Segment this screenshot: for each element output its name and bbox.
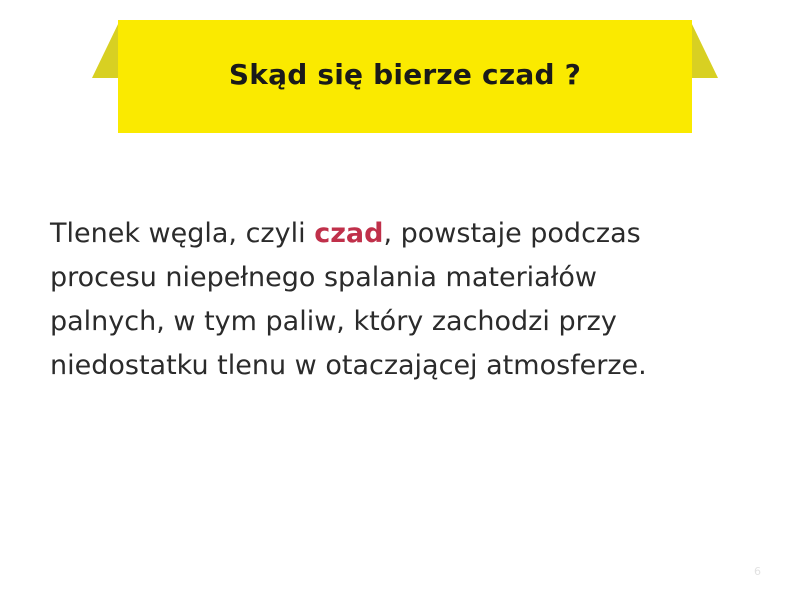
ribbon-tail-left-decoration (92, 20, 120, 78)
body-line: procesu niepełnego spalania materiałów (50, 256, 730, 300)
page-number: 6 (754, 565, 761, 578)
slide-title: Skąd się bierze czad ? (118, 20, 692, 133)
ribbon-tail-right-decoration (690, 20, 718, 78)
body-line: niedostatku tlenu w otaczającej atmosfer… (50, 344, 730, 388)
body-line: Tlenek węgla, czyli czad, powstaje podcz… (50, 212, 730, 256)
slide-canvas: Skąd się bierze czad ? Tlenek węgla, czy… (0, 0, 803, 600)
body-line-text-tail: , powstaje podczas (383, 218, 640, 249)
body-line-text: palnych, w tym paliw, który zachodzi prz… (50, 306, 617, 337)
body-line-text: Tlenek węgla, czyli (50, 218, 314, 249)
slide-body-paragraph: Tlenek węgla, czyli czad, powstaje podcz… (50, 212, 730, 388)
body-line-text: niedostatku tlenu w otaczającej atmosfer… (50, 350, 647, 381)
highlight-keyword-czad: czad (314, 218, 383, 249)
body-line: palnych, w tym paliw, który zachodzi prz… (50, 300, 730, 344)
body-line-text: procesu niepełnego spalania materiałów (50, 262, 597, 293)
title-banner: Skąd się bierze czad ? (118, 20, 692, 133)
